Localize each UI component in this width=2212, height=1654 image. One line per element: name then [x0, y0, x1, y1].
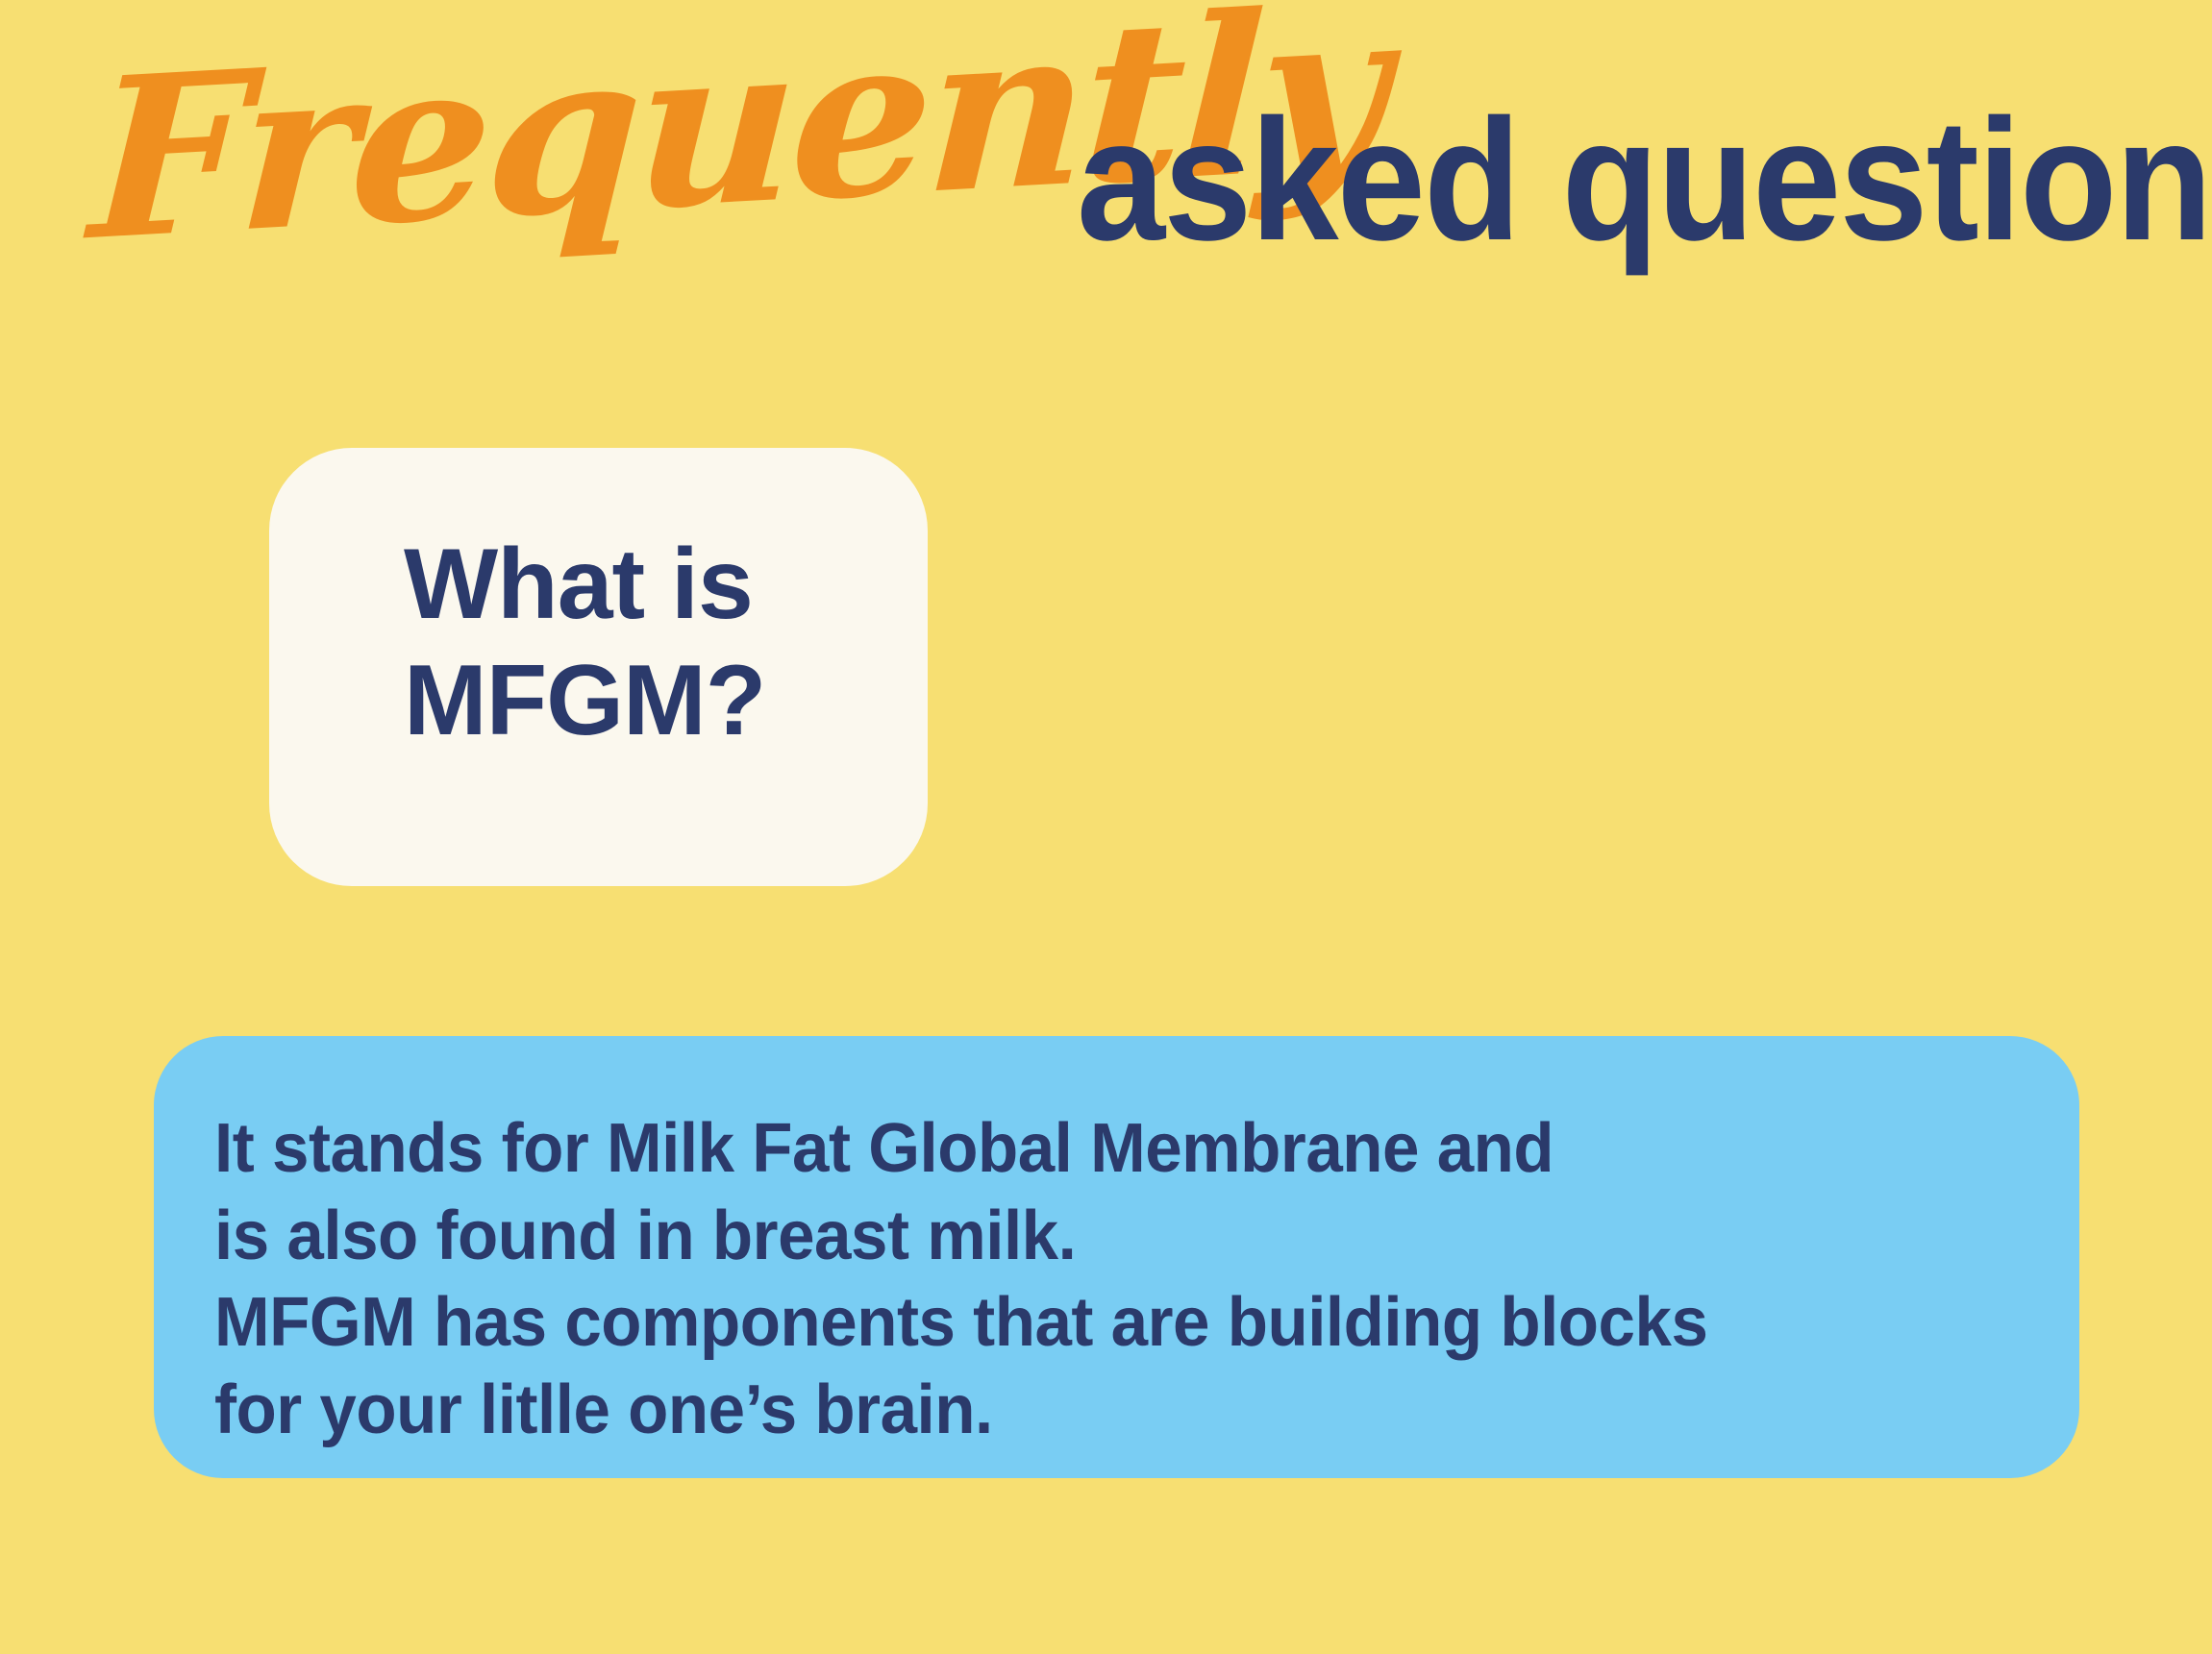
- question-text: What is MFGM?: [404, 527, 870, 758]
- page-title: Frequently asked questions: [87, 29, 2182, 288]
- question-card: What is MFGM?: [269, 448, 928, 886]
- answer-bubble: It stands for Milk Fat Global Membrane a…: [154, 1036, 2079, 1478]
- faq-slide: Frequently asked questions What is MFGM?…: [0, 0, 2212, 1654]
- headline-bold-words: asked questions: [1077, 94, 2212, 267]
- answer-text: It stands for Milk Fat Global Membrane a…: [214, 1105, 1950, 1454]
